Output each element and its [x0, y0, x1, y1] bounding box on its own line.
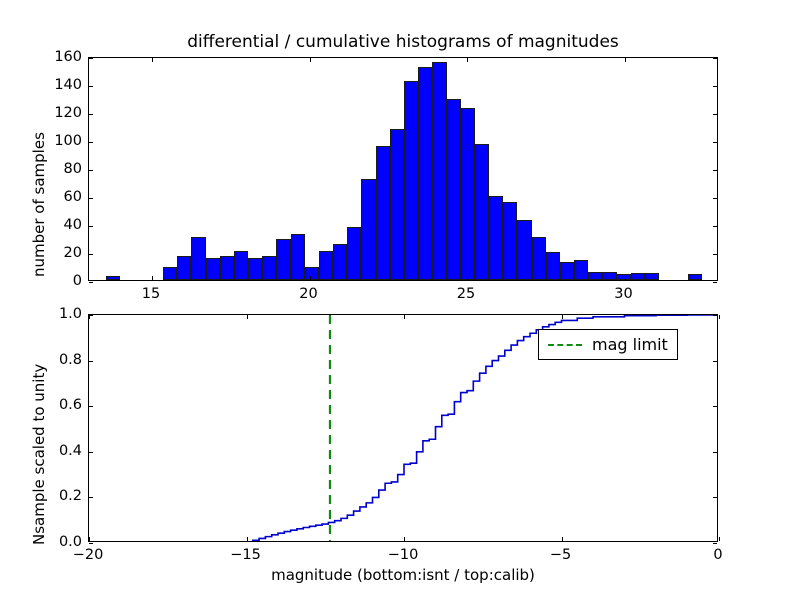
histogram-bar	[560, 262, 574, 280]
histogram-bar	[688, 274, 702, 280]
ytick-label: 0.0	[4, 534, 82, 550]
histogram-bar	[248, 258, 262, 280]
xtick-label: −5	[550, 547, 571, 563]
xtick-mark	[152, 276, 153, 280]
histogram-bar	[404, 81, 418, 280]
histogram-bar	[333, 244, 347, 280]
ytick-mark	[89, 282, 93, 283]
ytick-mark	[89, 452, 93, 453]
differential-histogram-axes	[88, 57, 718, 281]
histogram-bar	[206, 258, 220, 280]
ytick-label: 1.0	[4, 306, 82, 322]
xtick-mark	[562, 315, 563, 319]
xtick-mark	[404, 315, 405, 319]
ytick-label: 0.8	[4, 352, 82, 368]
ytick-mark	[713, 170, 717, 171]
ytick-mark	[89, 198, 93, 199]
legend[interactable]: mag limit	[538, 329, 678, 360]
ytick-mark	[713, 114, 717, 115]
histogram-bar	[262, 256, 276, 280]
histogram-bar	[574, 260, 588, 280]
ytick-mark	[713, 282, 717, 283]
histogram-bar	[489, 196, 503, 280]
ytick-label: 0.6	[4, 397, 82, 413]
xtick-mark	[625, 276, 626, 280]
ytick-mark	[89, 254, 93, 255]
histogram-bar	[418, 67, 432, 280]
histogram-bar	[546, 252, 560, 280]
histogram-bar	[347, 227, 361, 280]
histogram-bar	[106, 276, 120, 280]
ytick-label: 80	[4, 161, 82, 177]
ytick-mark	[713, 58, 717, 59]
histogram-bar	[447, 99, 461, 280]
histogram-bar	[503, 202, 517, 280]
bottom-axis-xlabel: magnitude (bottom:isnt / top:calib)	[88, 566, 718, 584]
histogram-bar	[376, 146, 390, 280]
top-axis-xtick-labels: 15202530	[88, 286, 718, 306]
xtick-mark	[404, 537, 405, 541]
histogram-bar	[319, 251, 333, 280]
ytick-mark	[713, 452, 717, 453]
ytick-label: 60	[4, 189, 82, 205]
xtick-mark	[625, 58, 626, 62]
xtick-mark	[719, 537, 720, 541]
ytick-label: 140	[4, 77, 82, 93]
histogram-bar	[532, 237, 546, 280]
ytick-mark	[713, 543, 717, 544]
ytick-label: 160	[4, 49, 82, 65]
xtick-mark	[467, 276, 468, 280]
histogram-bar	[305, 267, 319, 280]
ytick-mark	[713, 254, 717, 255]
xtick-mark	[719, 315, 720, 319]
ytick-mark	[89, 226, 93, 227]
xtick-label: 0	[713, 547, 722, 563]
xtick-mark	[247, 315, 248, 319]
ytick-mark	[89, 58, 93, 59]
ytick-mark	[713, 198, 717, 199]
ytick-mark	[713, 226, 717, 227]
histogram-bar	[631, 273, 645, 280]
histogram-bar	[602, 272, 616, 280]
histogram-bar	[390, 129, 404, 280]
xtick-mark	[310, 276, 311, 280]
legend-label-mag-limit: mag limit	[592, 335, 668, 354]
histogram-bar	[276, 239, 290, 280]
xtick-label: 30	[614, 286, 632, 302]
ytick-label: 100	[4, 133, 82, 149]
histogram-bar	[361, 179, 375, 280]
histogram-bar	[588, 272, 602, 280]
ytick-mark	[713, 361, 717, 362]
histogram-bar	[461, 108, 475, 280]
xtick-mark	[152, 58, 153, 62]
ytick-label: 0.2	[4, 488, 82, 504]
ytick-mark	[89, 86, 93, 87]
xtick-mark	[247, 537, 248, 541]
ytick-label: 40	[4, 217, 82, 233]
histogram-bar	[191, 237, 205, 280]
histogram-bar	[291, 234, 305, 280]
xtick-label: −10	[388, 547, 419, 563]
histogram-bar	[177, 256, 191, 280]
ytick-mark	[713, 315, 717, 316]
xtick-label: 25	[457, 286, 475, 302]
xtick-mark	[467, 58, 468, 62]
histogram-bar	[234, 251, 248, 280]
ytick-label: 0.4	[4, 443, 82, 459]
ytick-mark	[89, 543, 93, 544]
ytick-mark	[713, 406, 717, 407]
ytick-label: 0	[4, 273, 82, 289]
ytick-mark	[89, 361, 93, 362]
figure-title: differential / cumulative histograms of …	[88, 32, 718, 52]
ytick-mark	[89, 170, 93, 171]
xtick-mark	[310, 58, 311, 62]
xtick-mark	[562, 537, 563, 541]
ytick-mark	[713, 86, 717, 87]
matplotlib-figure: differential / cumulative histograms of …	[0, 0, 800, 600]
histogram-bar	[645, 273, 659, 280]
ytick-label: 20	[4, 245, 82, 261]
bottom-axis-xtick-labels: −20−15−10−50	[88, 547, 718, 567]
ytick-mark	[713, 142, 717, 143]
xtick-label: 15	[142, 286, 160, 302]
xtick-label: −15	[230, 547, 261, 563]
ytick-mark	[89, 142, 93, 143]
top-axis-ytick-labels: 020406080100120140160	[0, 57, 82, 281]
mag-limit-dash-icon	[548, 344, 582, 346]
ytick-mark	[89, 406, 93, 407]
histogram-bar	[220, 256, 234, 280]
ytick-label: 120	[4, 105, 82, 121]
histogram-bar	[475, 144, 489, 280]
histogram-bar	[517, 220, 531, 280]
xtick-mark	[89, 315, 90, 319]
ytick-mark	[713, 497, 717, 498]
histogram-bar	[163, 267, 177, 280]
xtick-label: 20	[299, 286, 317, 302]
xtick-mark	[89, 537, 90, 541]
ytick-mark	[89, 497, 93, 498]
xtick-label: −20	[73, 547, 104, 563]
bottom-axis-ytick-labels: 0.00.20.40.60.81.0	[0, 314, 82, 542]
histogram-bar	[432, 62, 446, 280]
ytick-mark	[89, 114, 93, 115]
